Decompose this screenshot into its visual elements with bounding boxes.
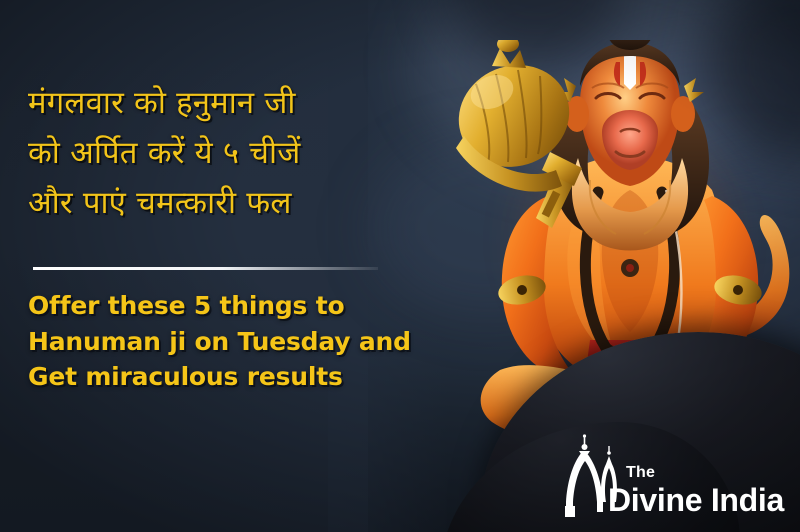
logo-the-label: The xyxy=(626,464,655,482)
text-content-area: मंगलवार को हनुमान जी को अर्पित करें ये ५… xyxy=(0,0,470,532)
headline-english: Offer these 5 things to Hanuman ji on Tu… xyxy=(28,288,458,395)
headline-divider xyxy=(33,267,378,270)
headline-hindi: मंगलवार को हनुमान जी को अर्पित करें ये ५… xyxy=(28,78,458,229)
brand-logo[interactable]: The Divine India xyxy=(562,434,784,518)
divine-india-banner: मंगलवार को हनुमान जी को अर्पित करें ये ५… xyxy=(0,0,800,532)
logo-name: Divine India xyxy=(608,484,784,516)
